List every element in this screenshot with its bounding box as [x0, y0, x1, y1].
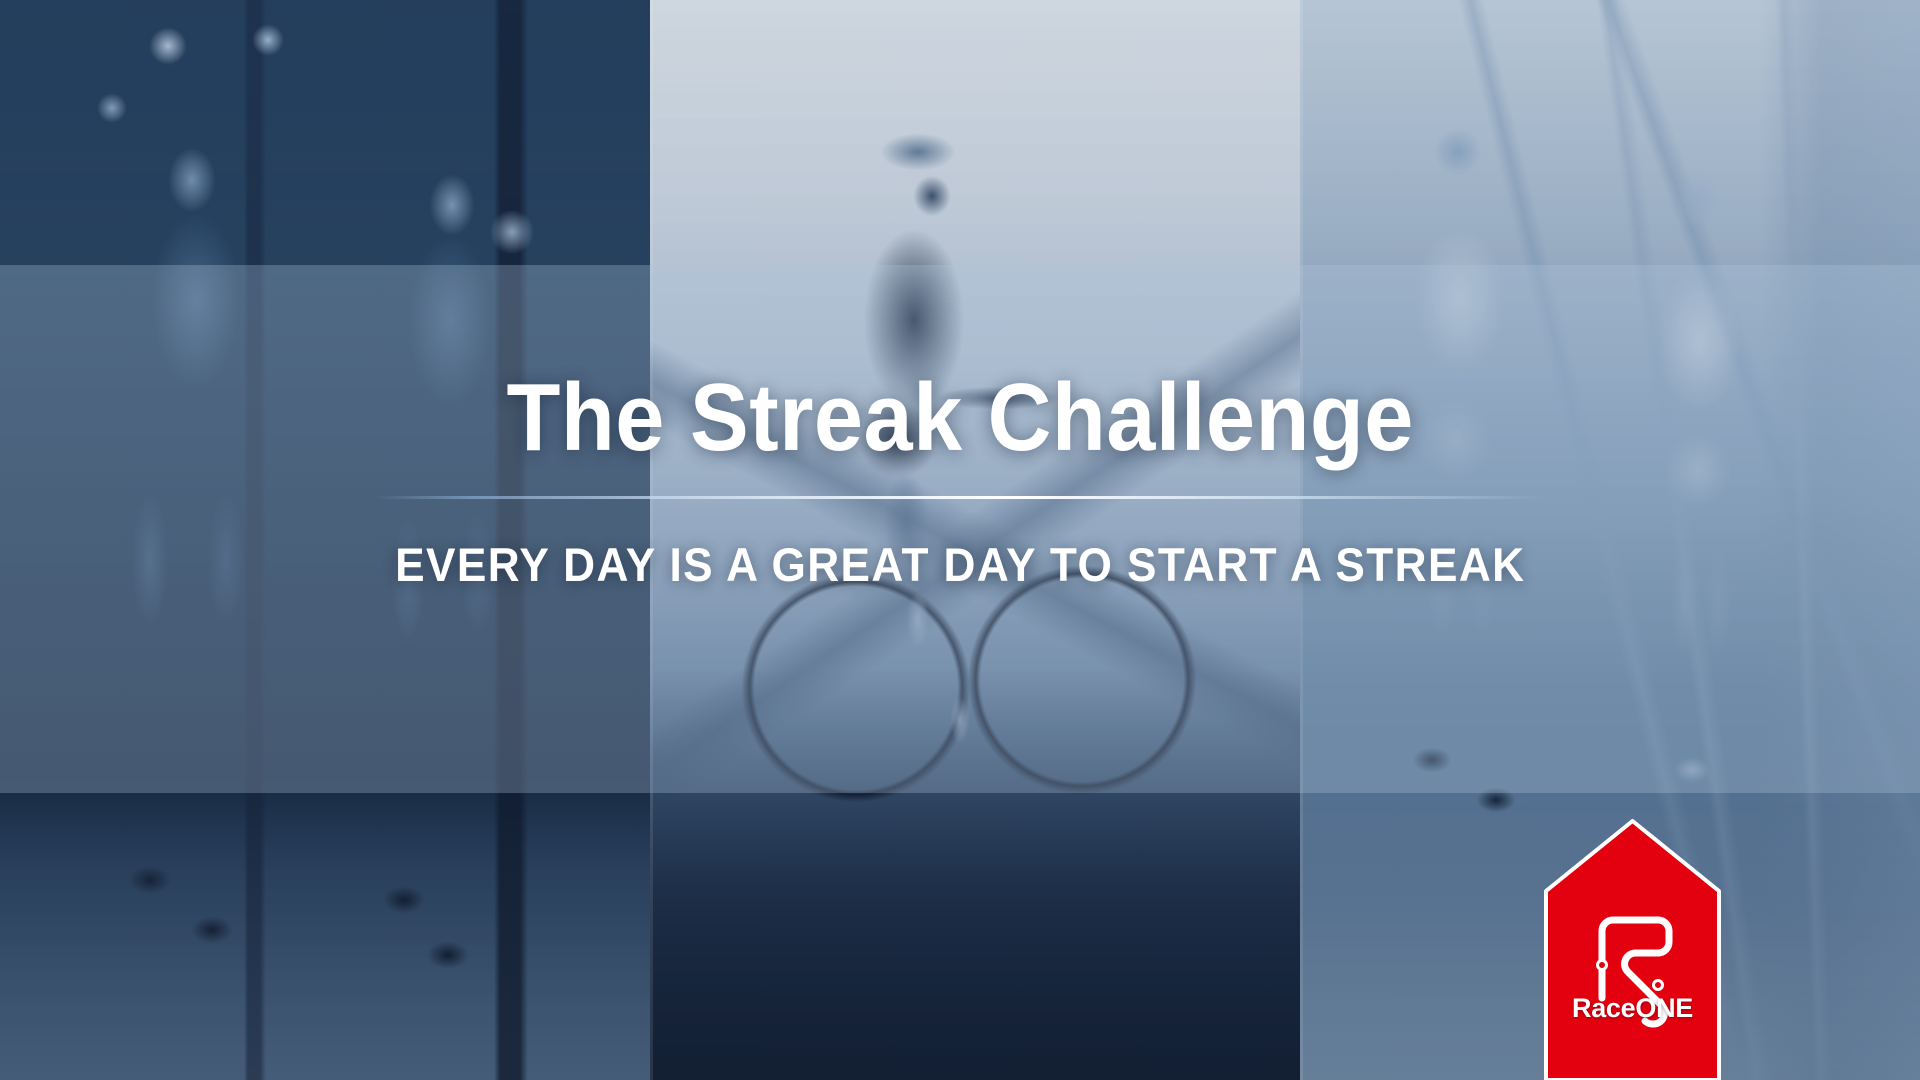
- logo-track-dot-end: [1654, 981, 1663, 990]
- logo-wordmark: RaceONE: [1540, 993, 1725, 1024]
- page-title: The Streak Challenge: [506, 370, 1413, 466]
- page-subtitle: EVERY DAY IS A GREAT DAY TO START A STRE…: [395, 537, 1525, 592]
- headline-group: The Streak Challenge EVERY DAY IS A GREA…: [0, 370, 1920, 592]
- logo-track-dot-start: [1598, 961, 1607, 970]
- streak-challenge-banner: The Streak Challenge EVERY DAY IS A GREA…: [0, 0, 1920, 1080]
- title-divider: [375, 496, 1545, 499]
- raceone-logo[interactable]: RaceONE: [1540, 815, 1725, 1080]
